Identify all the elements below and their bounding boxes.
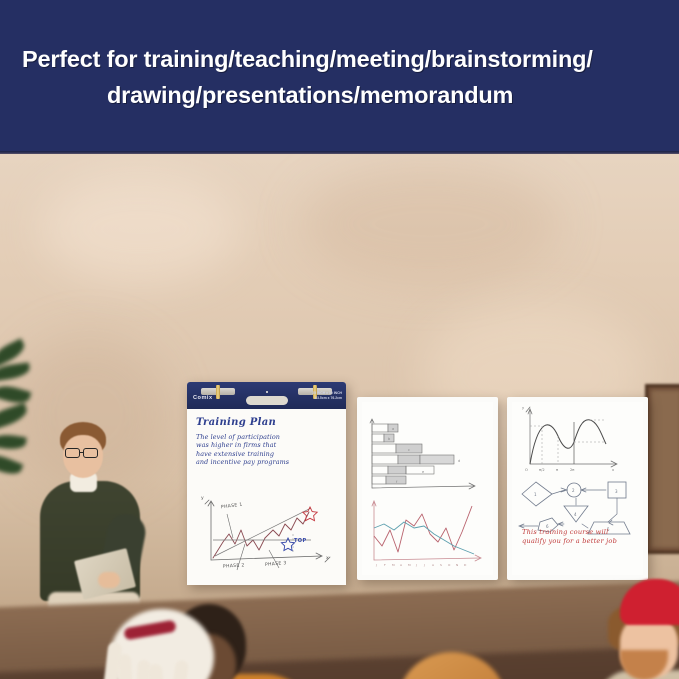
svg-text:J: J xyxy=(423,563,425,567)
svg-text:π: π xyxy=(556,468,559,472)
paragraph-line-1: The level of participation xyxy=(196,433,337,441)
svg-text:N: N xyxy=(456,563,458,567)
headline-banner: Perfect for training/teaching/meeting/br… xyxy=(0,0,679,154)
wall-picture-frame-inner xyxy=(651,390,679,548)
svg-text:A: A xyxy=(432,563,435,567)
flipchart-middle: ab cd ef JF MA xyxy=(357,397,498,580)
paragraph-line-2: was higher in firms that xyxy=(196,441,337,449)
svg-text:y: y xyxy=(522,406,525,410)
flipchart-main: Comix 25 INCH x 30 INCH 63.5cm x 76.2cm … xyxy=(187,382,346,585)
flipchart-header-band: Comix 25 INCH x 30 INCH 63.5cm x 76.2cm xyxy=(187,382,346,409)
svg-text:x: x xyxy=(612,468,615,472)
flipchart-title: Training Plan xyxy=(196,417,337,428)
flipchart-right-surface: O π/2 π 2π x y xyxy=(512,402,643,575)
right-charts-svg: O π/2 π 2π x y xyxy=(512,402,643,575)
svg-text:e: e xyxy=(422,470,425,474)
wall-texture-1 xyxy=(40,174,240,284)
message-line-2: qualify you for a better job xyxy=(522,537,642,546)
presenter-glasses-left xyxy=(65,448,80,458)
svg-text:M: M xyxy=(408,563,411,567)
y-axis-label: y xyxy=(201,496,204,501)
flipchart-paragraph: The level of participation was higher in… xyxy=(196,433,337,467)
presenter-glasses-bridge xyxy=(80,452,84,453)
size-spec-cm: 63.5cm x 76.2cm xyxy=(294,396,342,401)
svg-text:A: A xyxy=(400,563,403,567)
handdrawn-phase-chart: PHASE 1 PHASE 2 PHASE 3 TOP y x xyxy=(193,494,341,574)
svg-text:O: O xyxy=(448,563,451,567)
headline-line-2: drawing/presentations/memorandum xyxy=(22,77,679,113)
size-spec: 25 INCH x 30 INCH 63.5cm x 76.2cm xyxy=(294,391,342,400)
hang-hole xyxy=(266,391,268,393)
svg-text:O: O xyxy=(525,468,528,472)
product-marketing-image: Perfect for training/teaching/meeting/br… xyxy=(0,0,679,679)
svg-text:D: D xyxy=(464,563,467,567)
svg-text:π/2: π/2 xyxy=(539,468,545,472)
paragraph-line-4: and incentive pay programs xyxy=(196,458,337,466)
flipchart-right: O π/2 π 2π x y xyxy=(507,397,648,580)
x-axis-label: x xyxy=(326,556,329,561)
svg-text:d: d xyxy=(458,459,460,463)
message-line-1: This training course will xyxy=(522,528,642,537)
flipchart-middle-surface: ab cd ef JF MA xyxy=(362,402,493,575)
flipchart-right-message: This training course will qualify you fo… xyxy=(522,528,642,546)
svg-text:F: F xyxy=(384,563,386,567)
carry-handle xyxy=(246,396,288,405)
svg-text:J: J xyxy=(415,563,417,567)
svg-text:2π: 2π xyxy=(570,468,575,472)
svg-text:S: S xyxy=(440,563,442,567)
svg-text:a: a xyxy=(392,427,394,431)
svg-text:c: c xyxy=(408,448,410,452)
brand-logo: Comix xyxy=(193,395,213,401)
screw-left xyxy=(216,385,220,399)
top-label: TOP xyxy=(294,538,307,544)
paragraph-line-3: have extensive training xyxy=(196,450,337,458)
svg-text:J: J xyxy=(375,563,377,567)
potted-plant xyxy=(0,339,48,489)
presenter-glasses-right xyxy=(83,448,98,458)
svg-text:4: 4 xyxy=(574,512,577,517)
svg-text:1: 1 xyxy=(534,492,537,497)
middle-charts-svg: ab cd ef JF MA xyxy=(362,402,493,575)
svg-text:3: 3 xyxy=(615,489,618,494)
svg-text:M: M xyxy=(392,563,395,567)
wall-texture-2 xyxy=(300,164,560,284)
meeting-room-photo: Comix 25 INCH x 30 INCH 63.5cm x 76.2cm … xyxy=(0,154,679,679)
presenter-hand xyxy=(98,572,120,588)
headline-line-1: Perfect for training/teaching/meeting/br… xyxy=(22,41,679,77)
svg-text:2: 2 xyxy=(572,488,575,493)
